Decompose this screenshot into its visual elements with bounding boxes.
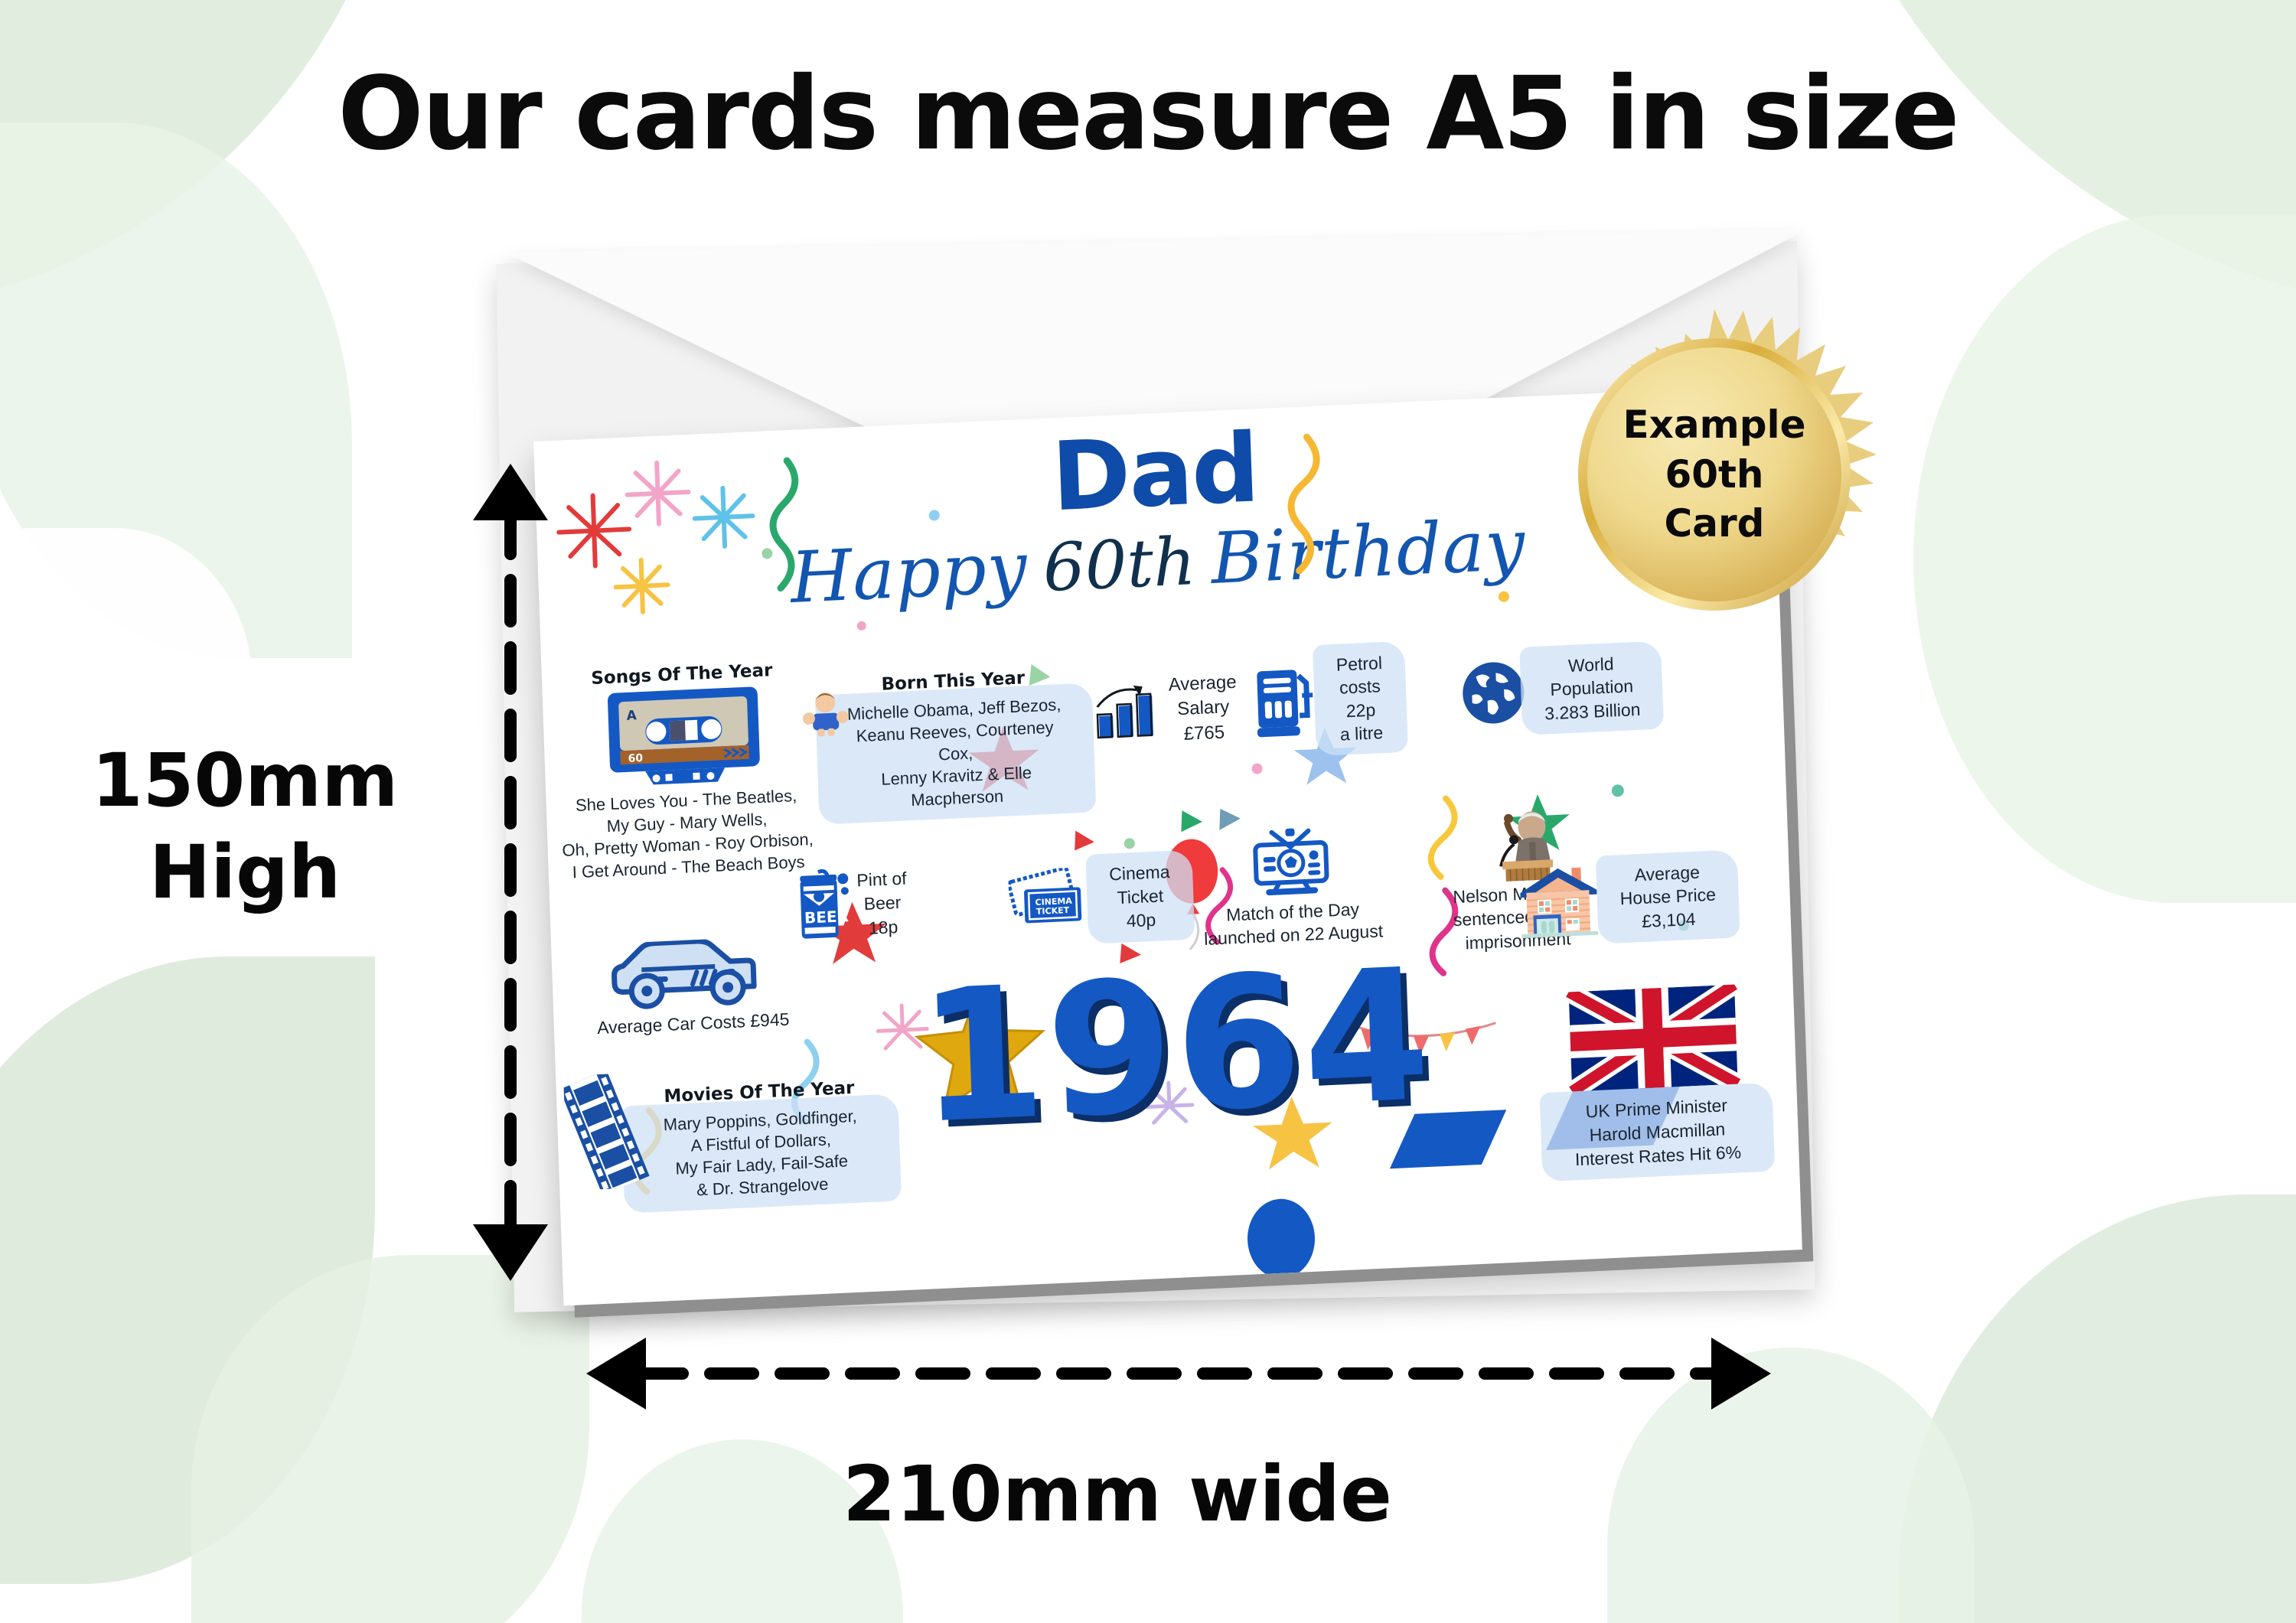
fact-lines: Pint of Beer 18p (856, 867, 908, 940)
fact-line: Average (1168, 670, 1237, 698)
badge-line-3: Card (1665, 504, 1765, 544)
fact-lines: Mary Poppins, Goldfinger, A Fistful of D… (644, 1104, 879, 1204)
fact-line: £765 (1169, 719, 1238, 747)
badge-text: Example 60th Card (1546, 306, 1883, 643)
globe-icon (1460, 659, 1527, 726)
film-strip-icon (563, 1072, 651, 1191)
fact-lines: Petrol costs 22p a litre (1336, 651, 1384, 746)
height-dimension-line2: High (84, 826, 406, 918)
fact-lines: UK Prime Minister Harold Macmillan Inter… (1563, 1093, 1752, 1172)
fact-uk-prime-minister: UK Prime Minister Harold Macmillan Inter… (1552, 1089, 1763, 1175)
beer-label: BEER (804, 907, 850, 927)
fact-average-house-price: Average House Price £3,104 (1515, 856, 1727, 942)
cassette-length-label: 60 (628, 752, 643, 765)
fact-line: £3,104 (1620, 906, 1717, 934)
height-dimension-line1: 150mm (84, 735, 406, 826)
fact-born-this-year: Born This Year Michelle Obama, Jeff Bezo… (827, 666, 1084, 818)
fact-lines: Average Salary £765 (1168, 670, 1238, 748)
fact-lines: Michelle Obama, Jeff Bezos, Keanu Reeves… (838, 693, 1073, 815)
fact-line: Salary (1169, 695, 1238, 722)
fact-average-salary: Average Salary £765 (1094, 670, 1238, 751)
bar-chart-icon (1095, 681, 1163, 744)
fact-line: a litre (1339, 721, 1385, 746)
television-icon (1248, 825, 1333, 899)
union-jack-icon (1564, 984, 1743, 1091)
fact-world-population: World Population 3.283 Billion (1460, 647, 1652, 732)
fact-line: costs (1336, 674, 1383, 699)
baby-icon (800, 686, 852, 739)
fact-line: 3.283 Billion (1544, 698, 1641, 725)
fact-line: Pint of (856, 867, 907, 893)
fact-line: 40p (1110, 908, 1172, 934)
page-headline: Our cards measure A5 in size (0, 55, 2296, 173)
badge-line-2: 60th (1665, 455, 1763, 495)
fact-petrol-costs: Petrol costs 22p a litre (1253, 647, 1395, 753)
fact-lines: Cinema Ticket 40p (1109, 860, 1172, 934)
fact-line: 22p (1337, 698, 1384, 723)
fact-line: House Price (1619, 883, 1716, 911)
vertical-dimension-arrow-icon (468, 459, 553, 1286)
fact-lines: She Loves You - The Beatles, My Guy - Ma… (559, 784, 815, 884)
height-dimension-label: 150mm High (84, 735, 406, 918)
fact-match-of-the-day: Match of the Day launched on 22 August (1175, 822, 1408, 952)
horizontal-dimension-arrow-icon (582, 1331, 1776, 1416)
fact-lines: Average House Price £3,104 (1619, 860, 1717, 934)
fact-songs-of-the-year: Songs Of The Year A 60 She Loves You - T… (556, 659, 815, 884)
ticket-label-line2: TICKET (1036, 904, 1070, 916)
house-icon (1515, 863, 1603, 940)
fact-pint-of-beer: BEER Pint of Beer 18p (794, 865, 908, 946)
fact-line: Beer (857, 891, 908, 917)
example-card-badge: Example 60th Card (1546, 306, 1883, 643)
cinema-ticket-icon: CINEMA TICKET (1008, 866, 1093, 936)
width-dimension-label: 210mm wide (811, 1446, 1424, 1542)
fact-lines: World Population 3.283 Billion (1543, 651, 1641, 725)
beer-can-icon: BEER (794, 868, 851, 945)
car-icon (610, 937, 773, 1014)
fact-cinema-ticket: CINEMA TICKET Cinema Ticket 40p (1008, 856, 1183, 941)
fact-line: Cinema (1109, 860, 1170, 887)
cassette-tape-icon: A 60 (606, 685, 762, 788)
fact-line: Petrol (1336, 651, 1382, 676)
fact-movies-of-the-year: Movies Of The Year Mary Poppins, Goldfin… (633, 1077, 889, 1207)
fact-line: Ticket (1110, 884, 1171, 911)
badge-line-1: Example (1623, 405, 1805, 445)
fact-average-car-costs: Average Car Costs £945 (568, 934, 816, 1041)
fuel-pump-icon (1254, 664, 1320, 741)
fact-line: 18p (858, 914, 908, 940)
cassette-side-label: A (626, 708, 638, 724)
